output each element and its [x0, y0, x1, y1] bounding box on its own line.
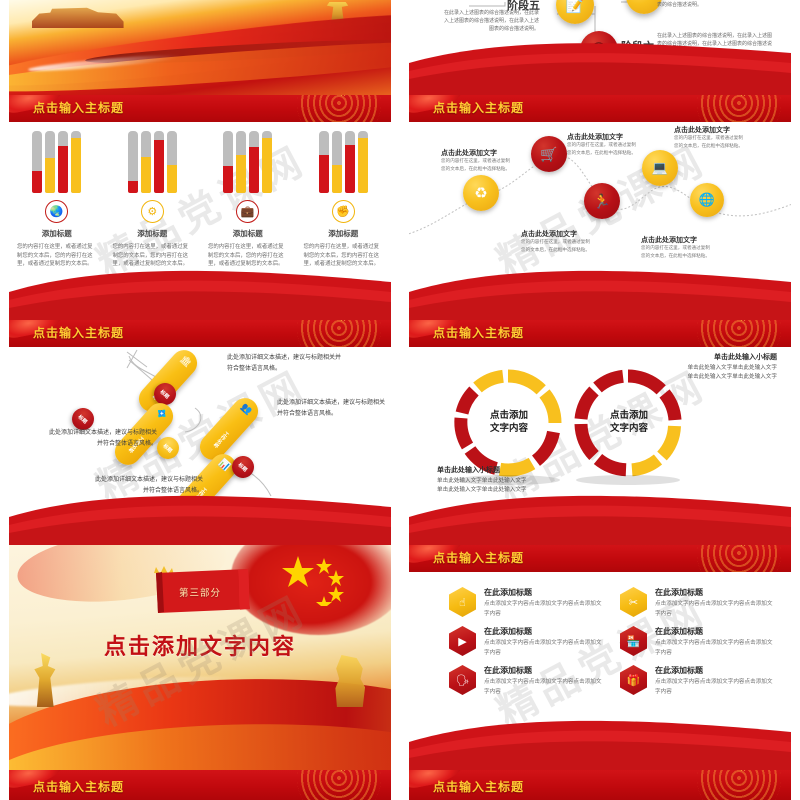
red-flag-banner: 第三部分 [144, 563, 256, 617]
ribbon-footer [409, 258, 791, 320]
bar-fill [141, 157, 151, 193]
icon-column-caption: 添加标题 [137, 228, 167, 239]
capsule-description-1: 此处添加详细文本描述，建议与标题相关并符合整体语言风格。 [227, 353, 343, 376]
hexagon-body: 点击添加文字内容点击添加文字内容点击添加文字内容 [655, 600, 775, 620]
document-edit-icon: 📝 [566, 0, 585, 14]
ripple-decoration [697, 545, 781, 572]
bar [332, 131, 342, 193]
slide-thumbnail-grid: 📝 💬 阶段五 阶段六 在此录入上述图表的综合描述说明，在此录入上述图表的综合描… [0, 0, 800, 800]
gift-box-icon: 🎁 [620, 665, 647, 695]
bar [236, 131, 246, 193]
hexagon-title: 在此添加标题 [655, 626, 775, 637]
recycle-icon: ♻ [474, 184, 487, 202]
slide-path-nodes[interactable]: ★ 点击输入主标题 精品党课网 ♻ 🛒 🏃 💻 [400, 95, 800, 320]
bar [167, 131, 177, 193]
slide-hero-art[interactable] [0, 0, 400, 95]
bar-fill [249, 147, 259, 193]
bar [345, 131, 355, 193]
bar-group [9, 131, 105, 193]
path-node-5[interactable]: 🌐 [690, 183, 724, 217]
ripple-decoration [297, 770, 381, 800]
bar-group [200, 131, 296, 193]
briefcase-icon: 💼 [236, 200, 259, 223]
ripple-decoration [697, 770, 781, 800]
star-icon: ★ [739, 545, 747, 547]
globe-icon: 🌐 [699, 192, 715, 208]
bar [32, 131, 42, 193]
star-icon: ★ [739, 770, 747, 772]
ripple-decoration [297, 95, 381, 122]
bar-fill [345, 145, 355, 193]
ribbon-footer [9, 258, 391, 320]
slide-bottom-right-strip[interactable]: ★ 点击输入主标题 [400, 770, 800, 800]
ring-caption-heading-top: 单击此处输入小标题 [714, 352, 777, 362]
hexagon-body: 点击添加文字内容点击添加文字内容点击添加文字内容 [484, 600, 604, 620]
path-node-body-2b: 您的文本后，在此框中选择粘贴。 [567, 149, 636, 157]
bar-chart [9, 131, 391, 193]
bar [223, 131, 233, 193]
bar-fill [58, 146, 68, 193]
bar-fill [236, 155, 246, 193]
path-node-4[interactable]: 💻 [642, 150, 678, 186]
path-node-body-3b: 您的文本后，在此框中选择粘贴。 [521, 246, 590, 254]
bar [58, 131, 68, 193]
bar-fill [358, 138, 368, 193]
gears-icon: ⚙ [141, 200, 164, 223]
bar [128, 131, 138, 193]
bar-fill [128, 181, 138, 193]
section-title: 点击添加文字内容 [9, 629, 391, 661]
bar [141, 131, 151, 193]
slide-bar-columns[interactable]: ★ 点击输入主标题 精品党课网 🌏 添加标题 您的内容打在这里，或者通过复制您的… [0, 95, 400, 320]
bar-fill [154, 140, 164, 193]
shopping-cart-icon: 🛒 [540, 146, 557, 163]
hexagon-item[interactable]: 🎁 在此添加标题 点击添加文字内容点击添加文字内容点击添加文字内容 [620, 665, 775, 700]
hexagon-item[interactable]: 🗣 在此添加标题 点击添加文字内容点击添加文字内容点击添加文字内容 [449, 665, 604, 700]
slide-bottom-left-strip[interactable]: ★ 点击输入主标题 [0, 770, 400, 800]
ribbon-footer [9, 483, 391, 545]
ring-caption-heading-bottom: 单击此处输入小标题 [437, 465, 500, 475]
hexagon-title: 在此添加标题 [655, 587, 775, 598]
hexagon-title: 在此添加标题 [484, 587, 604, 598]
stage-body-side: 在此录入上述图表的综合描述说明，在此录入上述图表的综合描述说明。 [657, 0, 775, 10]
stage-body-5: 在此录入上述图表的综合描述说明，在此录入上述图表的综合描述说明，在此录入上述图表… [441, 10, 539, 33]
bar-fill [71, 138, 81, 193]
hexagon-item[interactable]: 🏪 在此添加标题 点击添加文字内容点击添加文字内容点击添加文字内容 [620, 626, 775, 661]
hexagon-title: 在此添加标题 [484, 665, 604, 676]
bar [71, 131, 81, 193]
bar-fill [319, 155, 329, 193]
page-title: 点击输入主标题 [33, 95, 124, 122]
slide-section-divider[interactable]: 第三部分 点击添加文字内容 精品党课网 [0, 545, 400, 770]
bar [262, 131, 272, 193]
bar-fill [262, 138, 272, 193]
presentation-icon: 🗣 [449, 665, 476, 695]
ribbon-footer [409, 33, 791, 95]
runner-icon: 🏃 [593, 193, 610, 210]
page-title: 点击输入主标题 [433, 770, 524, 800]
hexagon-body: 点击添加文字内容点击添加文字内容点击添加文字内容 [655, 678, 775, 698]
hexagon-item[interactable]: ▶ 在此添加标题 点击添加文字内容点击添加文字内容点击添加文字内容 [449, 626, 604, 661]
path-node-2[interactable]: 🛒 [531, 136, 567, 172]
bar-fill [32, 171, 42, 193]
bar-fill [45, 158, 55, 193]
scissors-icon: ✂ [620, 587, 647, 617]
bar-fill [332, 165, 342, 193]
bar-group [296, 131, 392, 193]
hexagon-grid: ☝ 在此添加标题 点击添加文字内容点击添加文字内容点击添加文字内容 ✂ 在此添加… [449, 587, 775, 700]
icon-column-caption: 添加标题 [233, 228, 263, 239]
path-node-1[interactable]: ♻ [463, 175, 499, 211]
bar [154, 131, 164, 193]
flag-label: 第三部分 [144, 563, 256, 617]
bar-fill [167, 165, 177, 193]
hexagon-title: 在此添加标题 [484, 626, 604, 637]
tiananmen-gate-art [32, 4, 124, 29]
globe-hand-icon: 🌏 [45, 200, 68, 223]
section-background: 第三部分 点击添加文字内容 精品党课网 [9, 545, 391, 770]
shop-icon: 🏪 [620, 626, 647, 656]
bar [319, 131, 329, 193]
video-play-icon: ▶ [449, 626, 476, 656]
hexagon-item[interactable]: ✂ 在此添加标题 点击添加文字内容点击添加文字内容点击添加文字内容 [620, 587, 775, 622]
bar [45, 131, 55, 193]
slide-rings[interactable]: ★ 点击输入主标题 精品党课网 [400, 320, 800, 545]
hexagon-title: 在此添加标题 [655, 665, 775, 676]
bar-fill [223, 166, 233, 193]
ribbon-footer [409, 708, 791, 770]
path-node-body-1b: 您的文本后，在此框中选择粘贴。 [441, 165, 510, 173]
touch-screen-icon: ☝ [449, 587, 476, 617]
hero-background-art [9, 0, 391, 95]
bar [249, 131, 259, 193]
ring-left-text: 点击添加文字内容 [471, 410, 547, 436]
hand-coin-icon: ✊ [332, 200, 355, 223]
page-title: 点击输入主标题 [33, 770, 124, 800]
ring-right-text: 点击添加文字内容 [591, 410, 667, 436]
slide-hexagons[interactable]: ★ 点击输入主标题 精品党课网 ☝ 在此添加标题 点击添加文字内容点击添加文字内… [400, 545, 800, 770]
path-node-3[interactable]: 🏃 [584, 183, 620, 219]
hexagon-body: 点击添加文字内容点击添加文字内容点击添加文字内容 [484, 639, 604, 659]
slide-stage-flow[interactable]: 📝 💬 阶段五 阶段六 在此录入上述图表的综合描述说明，在此录入上述图表的综合描… [400, 0, 800, 95]
star-icon: ★ [339, 770, 347, 772]
capsule-description-2: 此处添加详细文本描述，建议与标题相关并符合整体语言风格。 [277, 398, 385, 421]
icon-column-caption: 添加标题 [328, 228, 358, 239]
capsule-description-3: 此处添加详细文本描述，建议与标题相关并符合整体语言风格。 [45, 428, 157, 451]
page-title: 点击输入主标题 [433, 545, 524, 572]
ribbon-footer [409, 483, 791, 545]
icon-column-caption: 添加标题 [42, 228, 72, 239]
china-flag-stars [280, 554, 368, 606]
hexagon-body: 点击添加文字内容点击添加文字内容点击添加文字内容 [655, 639, 775, 659]
ring-caption-line2-top: 单击此处输入文字单击此处输入文字 [687, 373, 777, 383]
bar [358, 131, 368, 193]
hexagon-body: 点击添加文字内容点击添加文字内容点击添加文字内容 [484, 678, 604, 698]
laptop-icon: 💻 [652, 160, 668, 176]
bar-group [105, 131, 201, 193]
path-node-body-4b: 您的文本后，在此框中选择粘贴。 [674, 142, 743, 150]
star-icon: ★ [339, 95, 347, 97]
slide-capsules[interactable]: ★ 点击输入主标题 精品党课网 🏛 工作名称 标题 💠 工作名 [0, 320, 400, 545]
hexagon-item[interactable]: ☝ 在此添加标题 点击添加文字内容点击添加文字内容点击添加文字内容 [449, 587, 604, 622]
